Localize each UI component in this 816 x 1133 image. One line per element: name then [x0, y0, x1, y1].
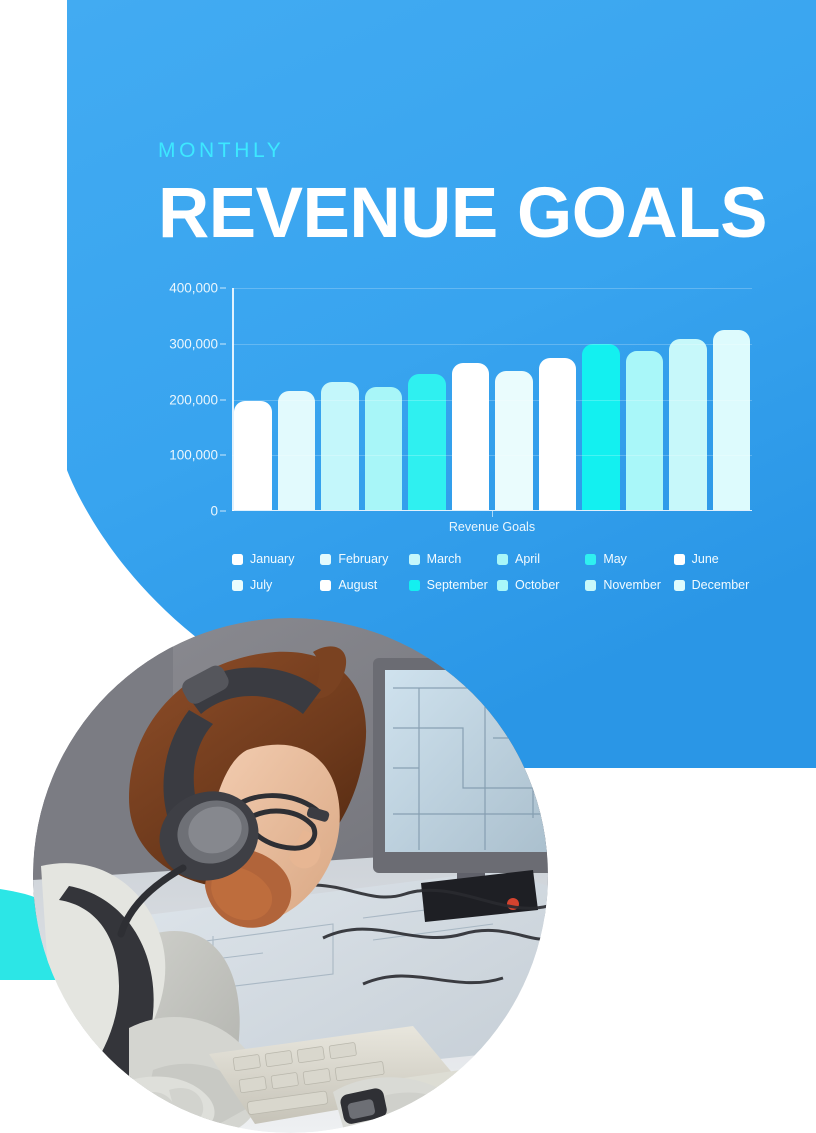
y-axis-tick-mark [220, 511, 226, 512]
y-axis-tick-label: 400,000 [169, 281, 218, 296]
legend-item-may[interactable]: May [585, 546, 673, 572]
bar-february[interactable] [278, 391, 316, 509]
y-axis-tick-mark [220, 399, 226, 400]
legend-swatch-icon [320, 580, 331, 591]
legend-label: March [427, 552, 462, 566]
legend-label: July [250, 578, 272, 592]
legend-swatch-icon [674, 554, 685, 565]
bar-june[interactable] [452, 363, 490, 510]
legend-swatch-icon [497, 580, 508, 591]
legend-item-january[interactable]: January [232, 546, 320, 572]
legend-swatch-icon [497, 554, 508, 565]
legend-label: December [692, 578, 750, 592]
legend-label: October [515, 578, 559, 592]
legend-label: April [515, 552, 540, 566]
legend-swatch-icon [585, 580, 596, 591]
gridline [232, 344, 752, 345]
legend-item-july[interactable]: July [232, 572, 320, 598]
bar-may[interactable] [408, 374, 446, 509]
gridline [232, 400, 752, 401]
headline-block: MONTHLY REVENUE GOALS [158, 140, 778, 249]
legend-swatch-icon [674, 580, 685, 591]
y-axis-tick-mark [220, 455, 226, 456]
legend-swatch-icon [585, 554, 596, 565]
y-axis: 0100,000200,000300,000400,000 [160, 288, 226, 513]
legend-item-march[interactable]: March [409, 546, 497, 572]
bar-march[interactable] [321, 382, 359, 509]
legend-swatch-icon [232, 580, 243, 591]
gridline [232, 288, 752, 289]
legend-swatch-icon [409, 580, 420, 591]
y-axis-tick-label: 0 [210, 504, 218, 519]
chart-legend: JanuaryFebruaryMarchAprilMayJuneJulyAugu… [232, 546, 762, 598]
x-axis-tick-mark [492, 511, 493, 517]
bar-december[interactable] [713, 330, 751, 510]
legend-item-december[interactable]: December [674, 572, 762, 598]
gridline [232, 455, 752, 456]
bar-july[interactable] [495, 371, 533, 510]
legend-item-september[interactable]: September [409, 572, 497, 598]
plot-area [232, 288, 752, 511]
y-axis-tick-label: 300,000 [169, 336, 218, 351]
legend-label: November [603, 578, 661, 592]
legend-label: January [250, 552, 294, 566]
legend-label: February [338, 552, 388, 566]
legend-item-november[interactable]: November [585, 572, 673, 598]
revenue-bar-chart: 0100,000200,000300,000400,000 Revenue Go… [160, 288, 760, 598]
legend-swatch-icon [409, 554, 420, 565]
bar-october[interactable] [626, 351, 664, 510]
legend-item-february[interactable]: February [320, 546, 408, 572]
y-axis-tick-mark [220, 288, 226, 289]
bar-august[interactable] [539, 358, 577, 510]
legend-label: June [692, 552, 719, 566]
legend-item-october[interactable]: October [497, 572, 585, 598]
eyebrow-text: MONTHLY [158, 140, 778, 161]
bar-september[interactable] [582, 344, 620, 509]
legend-item-june[interactable]: June [674, 546, 762, 572]
bar-april[interactable] [365, 387, 403, 509]
y-axis-tick-label: 100,000 [169, 448, 218, 463]
legend-label: September [427, 578, 488, 592]
legend-item-august[interactable]: August [320, 572, 408, 598]
x-axis-title: Revenue Goals [232, 520, 752, 534]
legend-swatch-icon [320, 554, 331, 565]
y-axis-tick-label: 200,000 [169, 392, 218, 407]
y-axis-tick-mark [220, 343, 226, 344]
page-title: REVENUE GOALS [158, 179, 778, 249]
legend-item-april[interactable]: April [497, 546, 585, 572]
bar-november[interactable] [669, 339, 707, 509]
legend-label: August [338, 578, 377, 592]
legend-swatch-icon [232, 554, 243, 565]
legend-label: May [603, 552, 627, 566]
